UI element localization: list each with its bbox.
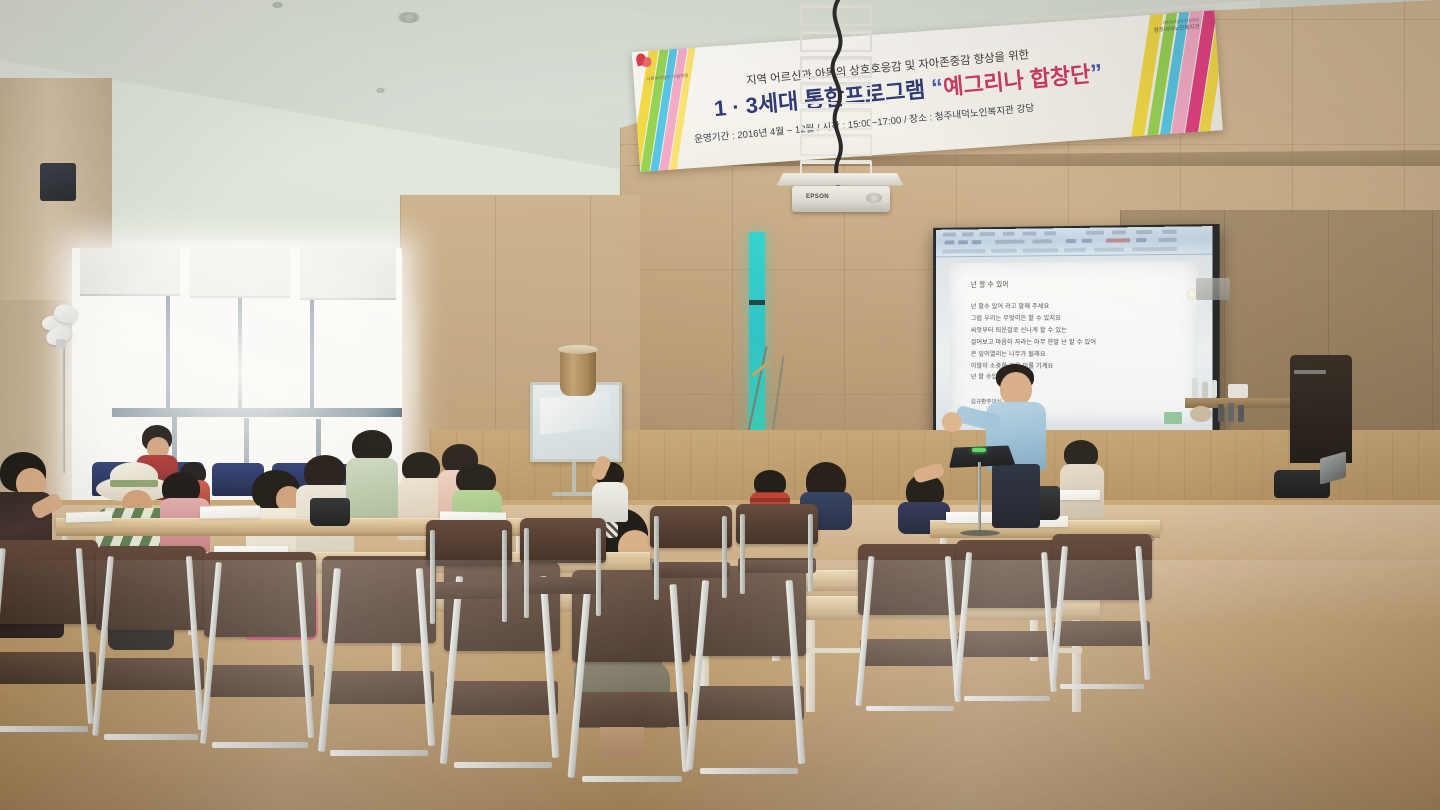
window-mullion — [310, 300, 314, 414]
shelf-item — [1202, 382, 1208, 398]
chair-leg — [722, 516, 727, 598]
chair-back — [520, 518, 606, 563]
chair-crossbar — [582, 776, 682, 782]
chair-leg — [740, 514, 745, 594]
window-mullion — [166, 296, 170, 414]
chair-crossbar — [964, 696, 1050, 701]
wall-fan-icon — [40, 305, 88, 351]
chair-crossbar — [454, 762, 552, 768]
shelf-item — [1212, 380, 1217, 398]
projector: EPSON — [792, 186, 890, 212]
podium-trim — [1294, 370, 1326, 374]
shelf-item — [1228, 384, 1248, 398]
chair-seat — [446, 681, 557, 715]
chair-crossbar — [0, 726, 88, 732]
wall-speaker — [40, 163, 76, 201]
head — [1000, 372, 1032, 406]
folding-chair — [322, 556, 436, 762]
folding-chair — [736, 504, 818, 600]
shelf-item — [1218, 404, 1224, 422]
music-stand-light — [972, 448, 986, 452]
window-sill — [112, 408, 402, 417]
shelf-item — [1164, 412, 1182, 424]
window-blind — [300, 248, 396, 300]
chair-leg — [596, 528, 601, 616]
hair — [304, 455, 346, 489]
chair-seat — [1054, 621, 1150, 646]
chair-seat — [652, 562, 731, 578]
chair-seat — [738, 558, 817, 573]
legs — [992, 464, 1040, 528]
chair-seat — [324, 671, 433, 704]
music-stand-pole — [978, 462, 981, 534]
folding-chair — [204, 552, 316, 754]
window-blind — [80, 248, 180, 296]
photo-scene: 사회복지법인 우암학원 사회복지법인 우암학원 청주내덕노인복지관 지역 어르신… — [0, 0, 1440, 810]
banner-choir-title: 예그리나 합창단 — [942, 61, 1091, 100]
chair-back — [650, 506, 732, 548]
lyric-line: 그럼 우리는 무엇이든 할 수 있지요 — [971, 312, 1188, 325]
projector-plate — [777, 173, 904, 185]
chair-leg — [524, 528, 529, 618]
table-leg — [806, 620, 815, 712]
folding-chair — [858, 544, 962, 714]
projector-brand-label: EPSON — [806, 194, 829, 200]
chair-back — [426, 520, 512, 566]
chair-seat — [522, 577, 605, 594]
paper — [200, 505, 260, 518]
hat-band — [110, 480, 158, 487]
chair-crossbar — [700, 768, 798, 774]
lyrics-title: 넌 할 수 있어 — [971, 277, 1188, 289]
folding-chair — [1052, 534, 1152, 690]
window-mullion — [238, 298, 242, 414]
folding-chair — [956, 540, 1058, 702]
folding-chair — [650, 506, 732, 606]
folding-chair — [96, 546, 206, 746]
handbag — [310, 498, 350, 526]
chair-back — [736, 504, 818, 544]
chair-seat — [0, 652, 96, 684]
chair-crossbar — [1060, 684, 1144, 689]
chair-seat — [206, 665, 314, 697]
drum — [560, 348, 596, 396]
doorway-bar — [749, 300, 765, 305]
window-blind — [190, 248, 290, 298]
chair-crossbar — [330, 750, 428, 756]
lyric-line: 넌 할수 있어 라고 말해 주세요 — [971, 300, 1188, 313]
screen-app-toolbar — [936, 226, 1213, 257]
folding-chair — [0, 540, 98, 740]
projector-cable — [824, 0, 854, 190]
torso — [346, 458, 398, 526]
downlight — [376, 88, 385, 93]
music-stand-base — [960, 530, 1000, 536]
chair-seat — [958, 631, 1056, 657]
folding-chair — [520, 518, 606, 624]
shelf-item — [1190, 406, 1212, 422]
whiteboard-glare — [540, 391, 610, 434]
lyric-line: 큰 잎이열리는 나무가 될래요 — [971, 349, 1188, 361]
chair-seat — [692, 686, 803, 720]
quote-close: ” — [1089, 59, 1103, 87]
chair-seat — [428, 582, 511, 600]
chair-seat — [574, 692, 687, 727]
participant — [1060, 440, 1106, 526]
instructor — [980, 364, 1056, 524]
hand — [942, 412, 962, 432]
downlight — [272, 2, 283, 8]
chair-leg — [808, 514, 813, 592]
lyric-line: 걸어보고 마음이 자라는 아무 한말 넌 할 수 있어 — [971, 337, 1188, 349]
chair-leg — [430, 530, 435, 624]
drum-head — [558, 345, 598, 354]
wall-bracket — [1196, 278, 1230, 300]
downlight — [398, 12, 420, 23]
chair-leg — [654, 516, 659, 600]
shelf-item — [1228, 403, 1234, 422]
child — [592, 456, 630, 524]
chair-crossbar — [866, 706, 954, 711]
shelf-item — [1238, 405, 1244, 422]
chair-crossbar — [212, 742, 308, 748]
lyric-line: 씨앗부터 틔운걸로 신나게 할 수 있는 — [971, 325, 1188, 337]
shelf-item — [1192, 378, 1198, 398]
paper — [66, 511, 112, 523]
chair-crossbar — [104, 734, 198, 740]
chair-seat — [98, 658, 204, 690]
chair-leg — [502, 530, 507, 622]
whiteboard-leg — [572, 462, 576, 494]
folding-chair — [426, 520, 512, 630]
chair-seat — [860, 639, 960, 666]
torso — [592, 482, 628, 522]
